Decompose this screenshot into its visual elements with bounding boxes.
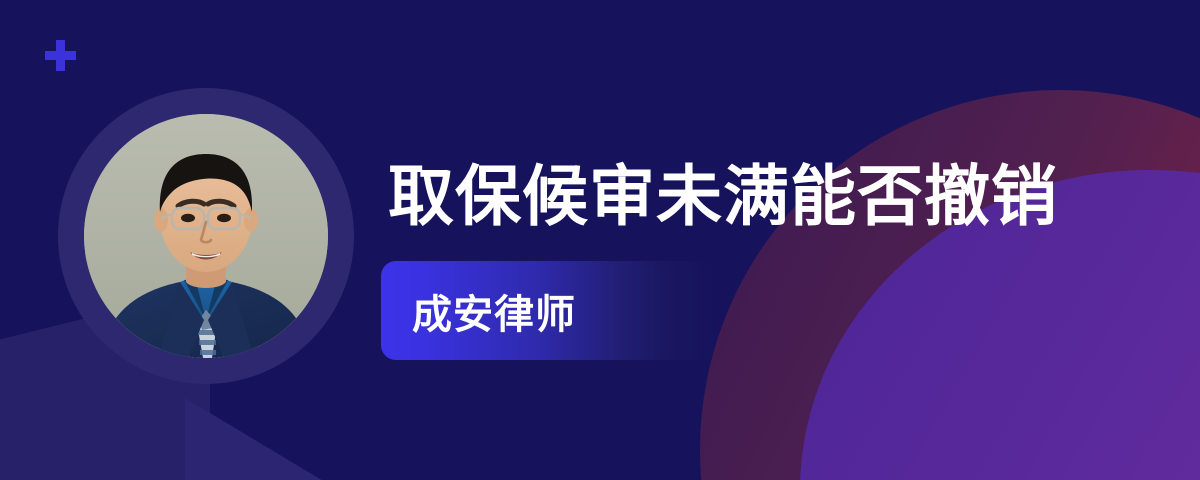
plus-icon-bar-vertical	[56, 40, 65, 71]
avatar-portrait-illustration	[84, 114, 328, 358]
avatar-ring	[58, 88, 354, 384]
page-title: 取保候审未满能否撤销	[388, 163, 1058, 229]
polygon-block-shape	[0, 380, 155, 480]
plus-icon	[45, 40, 76, 71]
lawyer-name-label: 成安律师	[412, 282, 576, 340]
arc-outer-shape	[700, 90, 1200, 480]
avatar	[84, 114, 328, 358]
lawyer-promo-banner: 取保候审未满能否撤销 成安律师	[0, 0, 1200, 480]
polygon-triangle-shape	[185, 398, 335, 480]
lawyer-name-chip[interactable]: 成安律师	[381, 261, 717, 360]
